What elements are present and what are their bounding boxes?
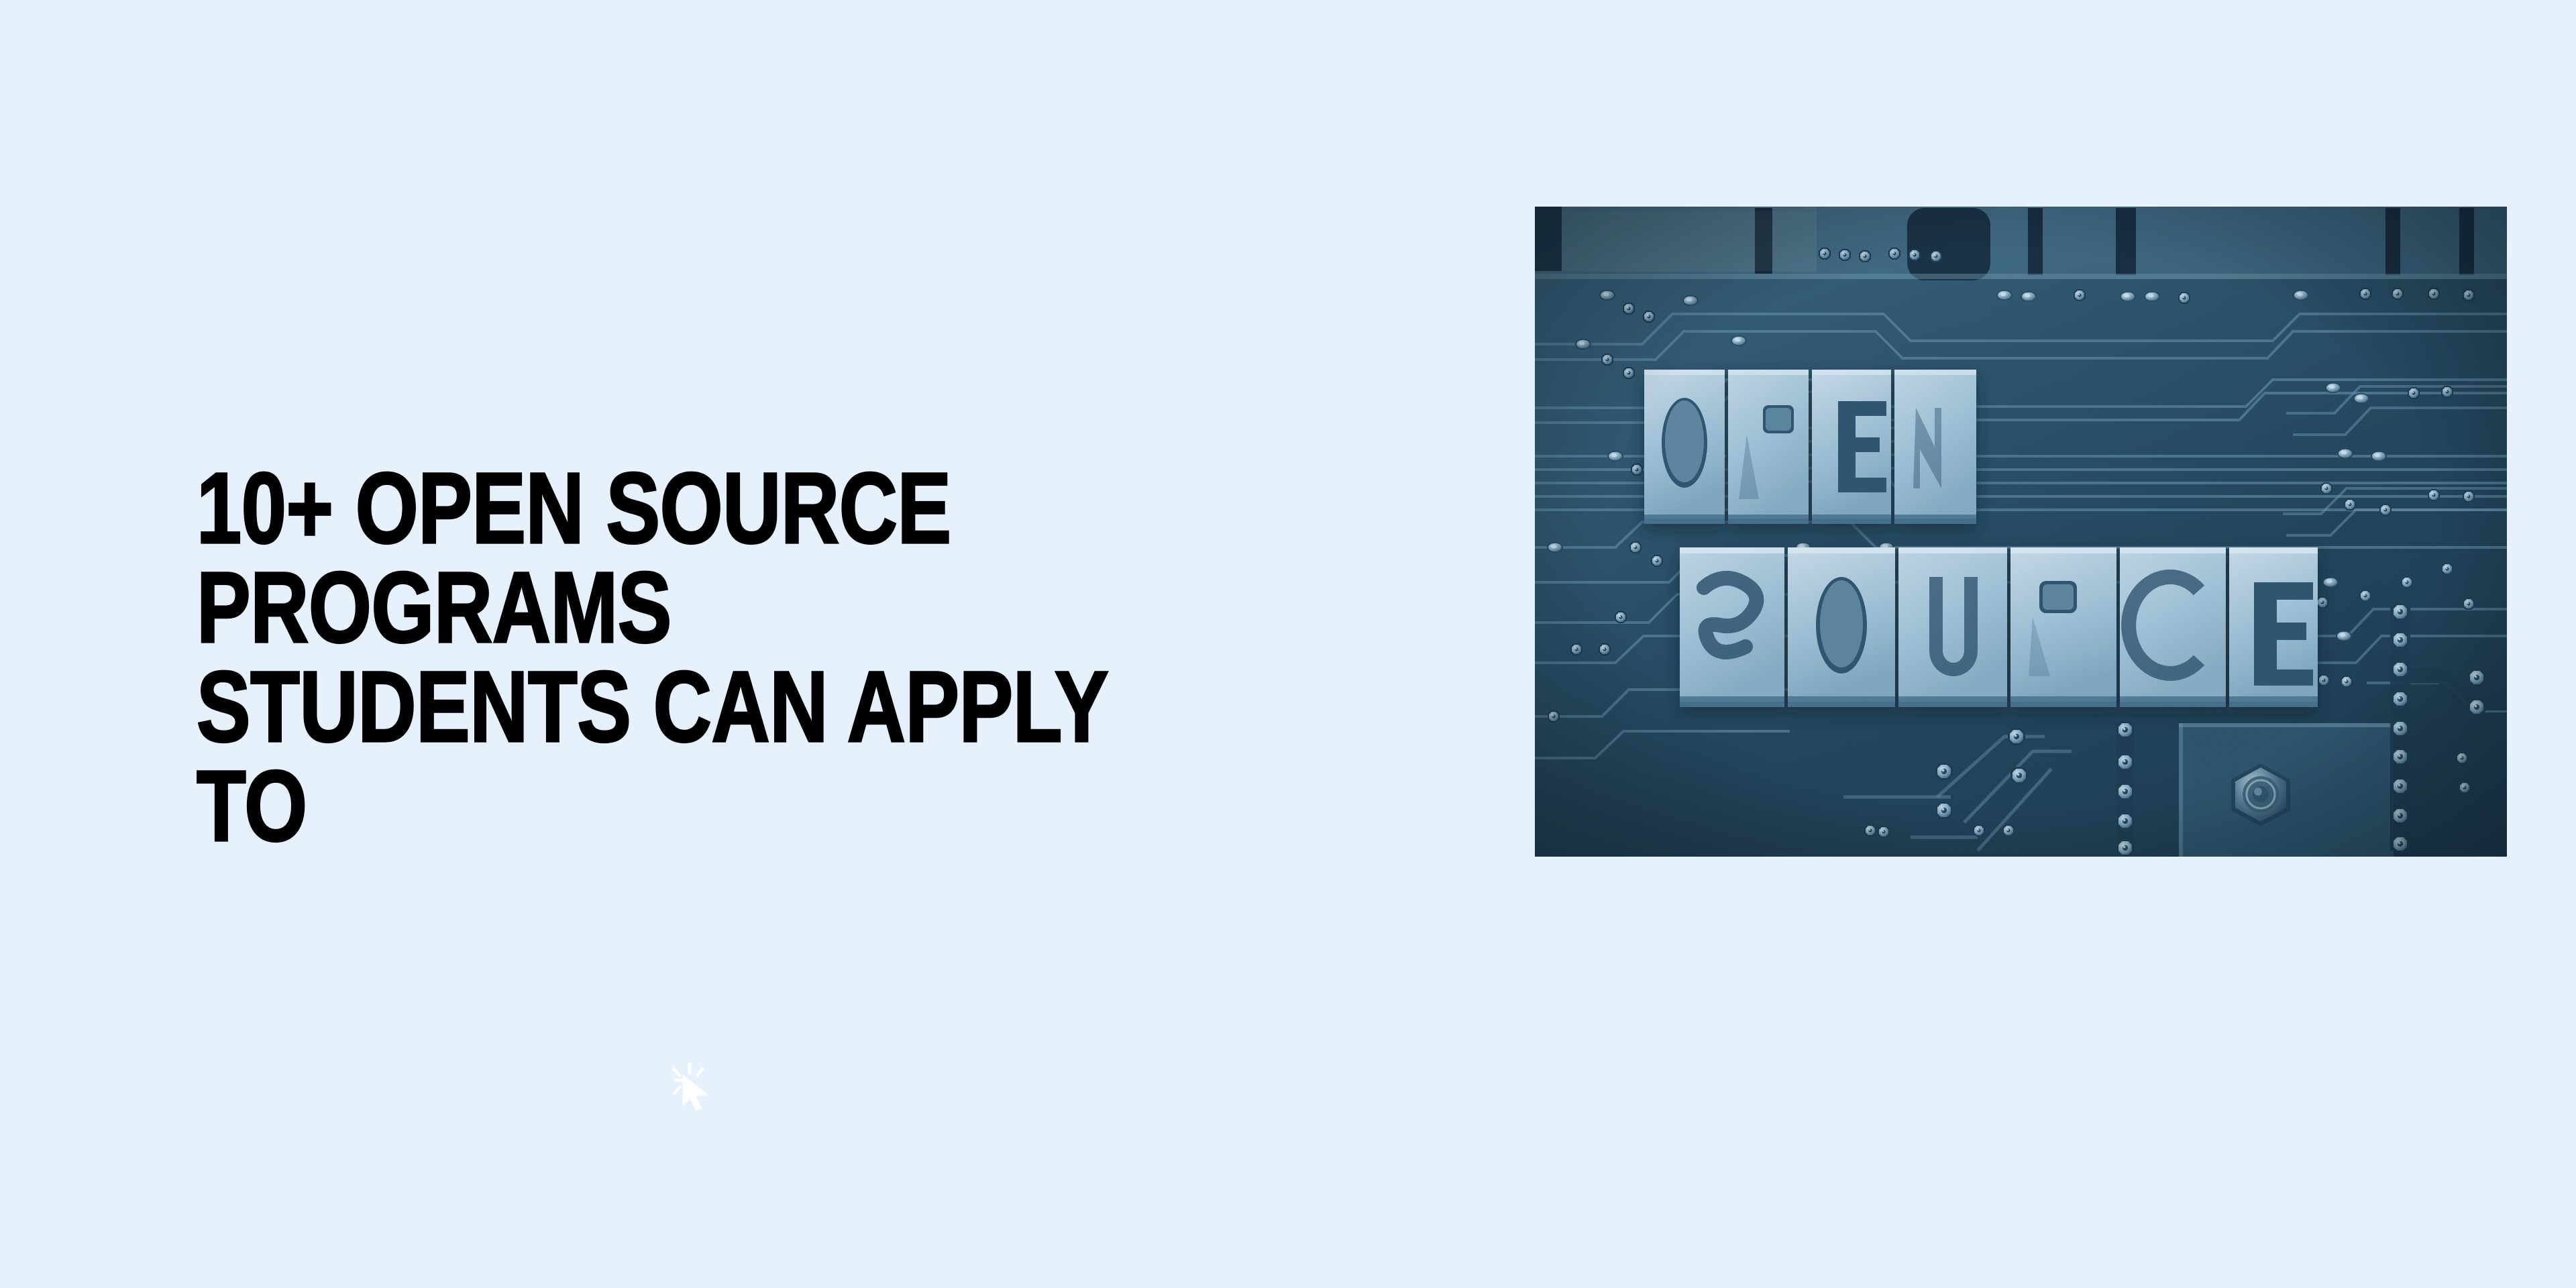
pointer-arrow-click-icon bbox=[665, 1063, 718, 1111]
page-title: 10+ Open Source Programs Students Can Ap… bbox=[197, 458, 1223, 855]
circuit-board-illustration bbox=[1535, 207, 2507, 857]
hero-image bbox=[1535, 207, 2507, 857]
mouse-cursor-icon bbox=[665, 1063, 718, 1111]
page-canvas: 10+ Open Source Programs Students Can Ap… bbox=[0, 0, 2576, 1288]
